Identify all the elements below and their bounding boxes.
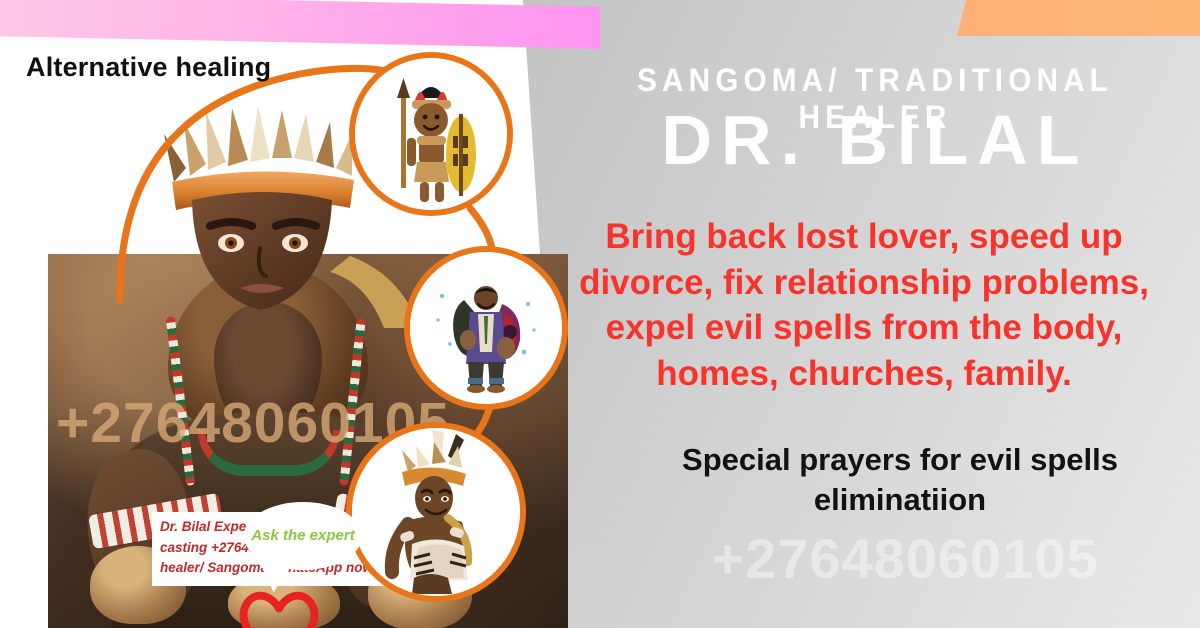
circle-crouching-dancer [352,428,520,596]
special-prayers-description: Special prayers for evil spells eliminat… [610,440,1190,521]
pink-gradient-bar [0,0,600,49]
circle-zulu-warrior [355,58,507,210]
ask-the-expert-label: Ask the expert [244,528,362,545]
crouching-dancer-illustration [352,428,520,596]
poster-canvas: +27648060105 Ask the expert Dr. Bilal Ex… [0,0,1200,628]
page-title-doctor-name: DR. BILAL [565,104,1185,178]
heart-icon [235,586,323,628]
spear-shaft [401,96,406,188]
ask-the-expert-bubble: Ask the expert [244,502,362,570]
warrior-head [414,103,448,137]
watermark-phone-number: +27648060105 [610,526,1200,591]
zulu-warrior-illustration [355,58,507,210]
headdress-feathers [164,106,352,182]
healer-sash [330,256,420,328]
services-description: Bring back lost lover, speed up divorce,… [540,214,1188,396]
tagline-alternative-healing: Alternative healing [26,52,271,83]
